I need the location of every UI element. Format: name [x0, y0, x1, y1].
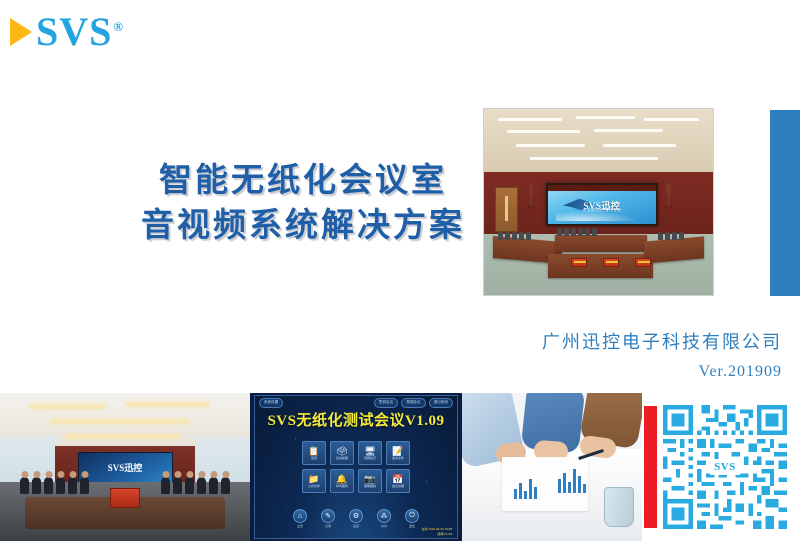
- app-tile-grid: 📋 签到 🗳 表决投票 🖥 同屏演示 📝 会议文件: [302, 441, 410, 493]
- app-topbar: 系统设置 签到会议 视频会议 退出系统: [255, 396, 457, 409]
- tile-label: 同屏演示: [364, 457, 376, 460]
- pill-exit-system[interactable]: 退出系统: [429, 398, 453, 408]
- tile-label: 表决投票: [336, 457, 348, 460]
- calendar-icon: 📅: [392, 475, 403, 484]
- nav-notes[interactable]: ✎ 记录: [321, 509, 335, 528]
- tile-label: 公共文件: [308, 485, 320, 488]
- tile-call-service[interactable]: 🔔 呼叫服务: [330, 469, 354, 493]
- qr-center-label: SVS: [710, 459, 740, 475]
- tile-screen-share[interactable]: 🖥 同屏演示: [358, 441, 382, 465]
- folder-icon: 📁: [308, 475, 319, 484]
- attendees-left: [20, 477, 89, 494]
- document-icon: 📝: [392, 447, 403, 456]
- vote-icon: 🗳: [336, 447, 347, 456]
- accent-bar-right: [770, 110, 800, 296]
- registered-icon: ®: [113, 19, 124, 34]
- share-icon: ⁂: [377, 509, 391, 523]
- water-glass: [604, 487, 634, 527]
- title-line-2: 音视频系统解决方案: [118, 203, 488, 248]
- strip-qr-block: SVS: [642, 393, 800, 541]
- tile-label: 呼叫服务: [336, 485, 348, 488]
- nav-home[interactable]: ⌂ 主页: [293, 509, 307, 528]
- logo-wordmark: SVS®: [36, 12, 124, 52]
- accent-bar-red: [644, 406, 657, 528]
- nav-label: 退出: [409, 524, 415, 528]
- exit-icon: ⏻: [405, 509, 419, 523]
- service-icon: 🔔: [336, 475, 347, 484]
- chairs-left: [498, 232, 531, 240]
- hero-conference-room-image: SVS迅控 专业视听信号集中控制: [483, 108, 714, 296]
- pill-video-meeting[interactable]: 视频会议: [401, 398, 425, 408]
- chairs-right: [658, 232, 684, 240]
- nav-label: 主页: [297, 524, 303, 528]
- screen-share-icon: 🖥: [364, 447, 375, 456]
- tile-label: 签到: [311, 457, 317, 460]
- note-icon: ✎: [321, 509, 335, 523]
- pill-signin-meeting[interactable]: 签到会议: [374, 398, 398, 408]
- clipboard-icon: 📋: [308, 447, 319, 456]
- wall-panel-right: [665, 183, 672, 207]
- svs-logo: SVS®: [10, 12, 124, 52]
- settings-icon: ⚙: [349, 509, 363, 523]
- tile-signin[interactable]: 📋 签到: [302, 441, 326, 465]
- desk-device-2: [603, 258, 619, 267]
- strip-image-teamwork: [462, 393, 642, 541]
- strip-image-paperless-ui: 系统设置 签到会议 视频会议 退出系统 SVS无纸化测试会议V1.09 📋 签到…: [250, 393, 462, 541]
- slide-root: SVS® 智能无纸化会议室 音视频系统解决方案 SVS迅控 专业视听信号集中控制: [0, 0, 800, 541]
- company-block: 广州迅控电子科技有限公司 Ver.201909: [542, 330, 782, 381]
- bottom-image-strip: SVS迅控 系统设置 签到会议 视频会议 退出系统 SVS无: [0, 393, 800, 541]
- tile-vote[interactable]: 🗳 表决投票: [330, 441, 354, 465]
- desk-device: [110, 488, 140, 508]
- tile-camera-tracking[interactable]: 📷 摄像跟踪: [358, 469, 382, 493]
- strip-image-meeting-room: SVS迅控: [0, 393, 250, 541]
- topbar-right-group: 签到会议 视频会议 退出系统: [374, 398, 453, 408]
- play-triangle-icon: [10, 18, 32, 46]
- tile-label: 会议议程: [392, 485, 404, 488]
- display-brand-text: SVS迅控: [79, 461, 172, 474]
- status-line-1: 在线 2019-09-20 10:08: [419, 527, 454, 531]
- home-icon: ⌂: [293, 509, 307, 523]
- page-title: 智能无纸化会议室 音视频系统解决方案: [118, 158, 488, 247]
- company-name: 广州迅控电子科技有限公司: [542, 330, 782, 355]
- app-title: SVS无纸化测试会议V1.09: [255, 409, 457, 430]
- nav-settings[interactable]: ⚙ 设置: [349, 509, 363, 528]
- version-label: Ver.201909: [542, 363, 782, 381]
- tile-agenda[interactable]: 📅 会议议程: [386, 469, 410, 493]
- chairs-center: [557, 228, 597, 236]
- desk-device-3: [635, 258, 651, 267]
- title-line-1: 智能无纸化会议室: [118, 158, 488, 203]
- nav-label: 设置: [353, 524, 359, 528]
- tile-label: 摄像跟踪: [364, 485, 376, 488]
- nav-exit[interactable]: ⏻ 退出: [405, 509, 419, 528]
- logo-text: SVS: [36, 9, 112, 54]
- nav-label: 共享: [381, 524, 387, 528]
- bar-chart-graphic-1: [514, 477, 537, 499]
- tile-label: 会议文件: [392, 457, 404, 460]
- wall-panel-left: [528, 183, 535, 207]
- tile-meeting-files[interactable]: 📝 会议文件: [386, 441, 410, 465]
- door: [495, 187, 518, 232]
- display-wave: [556, 209, 647, 221]
- led-display: SVS迅控 专业视听信号集中控制: [546, 183, 658, 226]
- qr-code[interactable]: SVS: [663, 405, 787, 529]
- display-header-bar: [548, 185, 656, 190]
- attendees-right: [161, 477, 230, 494]
- table-center: [555, 235, 647, 252]
- nav-share[interactable]: ⁂ 共享: [377, 509, 391, 528]
- camera-icon: 📷: [364, 475, 375, 484]
- pill-system-settings[interactable]: 系统设置: [259, 398, 283, 408]
- led-display: SVS迅控: [78, 452, 173, 485]
- bar-chart-graphic-2: [558, 467, 586, 493]
- paperless-app-window: 系统设置 签到会议 视频会议 退出系统 SVS无纸化测试会议V1.09 📋 签到…: [254, 395, 458, 539]
- tile-public-files[interactable]: 📁 公共文件: [302, 469, 326, 493]
- app-bottom-nav: ⌂ 主页 ✎ 记录 ⚙ 设置 ⁂ 共享: [255, 509, 457, 528]
- desk-device-1: [571, 258, 587, 267]
- status-line-2: 终端 V1.09: [435, 532, 454, 536]
- ceiling: [484, 109, 713, 176]
- nav-label: 记录: [325, 524, 331, 528]
- app-status-bar: 在线 2019-09-20 10:08 终端 V1.09: [419, 527, 454, 536]
